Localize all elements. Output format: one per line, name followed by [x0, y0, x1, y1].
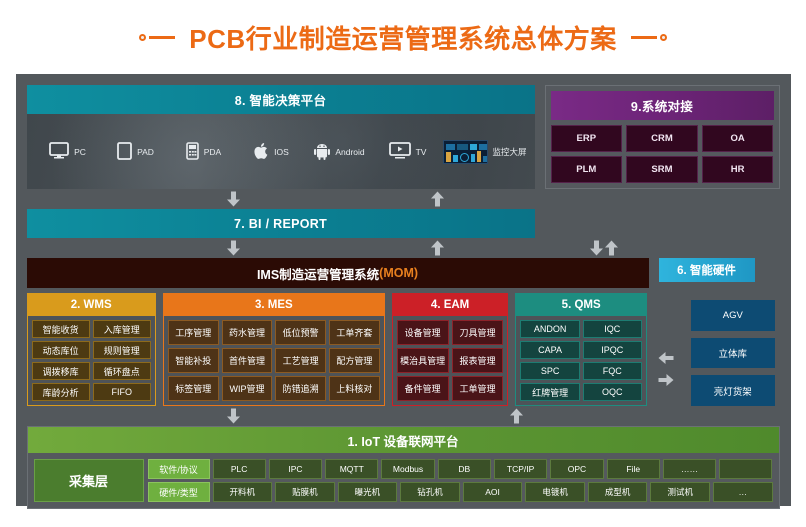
- iot-cell[interactable]: OPC: [550, 459, 603, 479]
- mes-cell[interactable]: 工艺管理: [275, 348, 326, 373]
- hardware-item-asrs[interactable]: 立体库: [691, 338, 774, 369]
- device-tv[interactable]: TV: [375, 142, 441, 161]
- iot-cell[interactable]: 贴膜机: [275, 482, 335, 502]
- qms-cell[interactable]: CAPA: [520, 341, 579, 359]
- eam-cell[interactable]: 模治具管理: [397, 348, 449, 373]
- iot-panel: 1. IoT 设备联网平台 采集层 软件/协议 PLC IPC MQTT Mod…: [27, 426, 780, 509]
- dashboard-screen-icon: [443, 140, 488, 164]
- module-qms-header: 5. QMS: [516, 294, 645, 316]
- iot-row-protocol-label: 软件/协议: [148, 459, 210, 479]
- device-label: Android: [335, 147, 364, 157]
- mes-cell[interactable]: 防错追溯: [275, 376, 326, 401]
- arrow-right-icon: [659, 373, 674, 391]
- decision-platform-header: 8. 智能决策平台: [27, 85, 535, 114]
- arrow-up-icon: [510, 409, 523, 424]
- mes-cell[interactable]: 配方管理: [329, 348, 380, 373]
- device-monitor-wall[interactable]: 监控大屏: [443, 140, 527, 164]
- device-ios[interactable]: IOS: [239, 142, 305, 162]
- android-icon: [314, 142, 330, 162]
- mes-cell[interactable]: 工单齐套: [329, 320, 380, 345]
- device-label: PC: [74, 147, 86, 157]
- device-pda[interactable]: PDA: [171, 142, 237, 162]
- bi-report-header: 7. BI / REPORT: [27, 209, 535, 238]
- device-pc[interactable]: PC: [35, 142, 101, 161]
- hardware-header: 6. 智能硬件: [659, 258, 755, 282]
- wms-cell[interactable]: 智能收货: [32, 320, 90, 338]
- diagram-canvas: 8. 智能决策平台 PC PAD: [16, 74, 791, 506]
- iot-row-hardware: 硬件/类型 开料机 贴膜机 曝光机 钻孔机 AOI 电镀机 成型机 测试机 …: [148, 482, 773, 502]
- integration-item-crm[interactable]: CRM: [626, 125, 698, 152]
- mom-title: IMS制造运营管理系统: [257, 264, 379, 283]
- flow-arrows-row-1: [27, 189, 780, 209]
- hardware-item-agv[interactable]: AGV: [691, 300, 774, 331]
- device-label: 监控大屏: [493, 146, 527, 158]
- page-title-row: PCB行业制造运营管理系统总体方案: [0, 0, 806, 74]
- device-pad[interactable]: PAD: [103, 142, 169, 162]
- iot-cell[interactable]: 电镀机: [525, 482, 585, 502]
- arrow-left-icon: [659, 351, 674, 369]
- device-label: PDA: [204, 147, 221, 157]
- apple-icon: [254, 142, 269, 162]
- arrow-up-icon: [431, 192, 444, 207]
- system-integration-header: 9.系统对接: [551, 91, 774, 120]
- qms-cell[interactable]: FQC: [583, 362, 642, 380]
- tv-icon: [389, 142, 411, 161]
- mes-cell[interactable]: WIP管理: [222, 376, 273, 401]
- top-section: 8. 智能决策平台 PC PAD: [27, 85, 780, 189]
- iot-cell[interactable]: 测试机: [650, 482, 710, 502]
- device-label: TV: [416, 147, 427, 157]
- module-row: 2. WMS 智能收货 入库管理 动态库位 规则管理 调拨移库 循环盘点 库龄分…: [27, 293, 780, 406]
- device-label: IOS: [274, 147, 289, 157]
- iot-cell[interactable]: File: [607, 459, 660, 479]
- arrow-down-icon: [227, 241, 240, 256]
- iot-cell[interactable]: AOI: [463, 482, 523, 502]
- device-strip: PC PAD PDA: [27, 114, 535, 189]
- integration-item-srm[interactable]: SRM: [626, 156, 698, 183]
- module-mes: 3. MES 工序管理 药水管理 低位预警 工单齐套 智能补投 首件管理 工艺管…: [163, 293, 385, 406]
- integration-item-oa[interactable]: OA: [702, 125, 774, 152]
- iot-cell[interactable]: Modbus: [381, 459, 434, 479]
- module-eam: 4. EAM 设备管理 刀具管理 模治具管理 报表管理 备件管理 工单管理: [392, 293, 509, 406]
- iot-cell[interactable]: DB: [438, 459, 491, 479]
- tablet-icon: [117, 142, 132, 162]
- mes-cell[interactable]: 标签管理: [168, 376, 219, 401]
- mom-tag: (MOM): [379, 266, 418, 280]
- module-qms: 5. QMS ANDON IQC CAPA IPQC SPC FQC 红牌管理 …: [515, 293, 646, 406]
- integration-item-hr[interactable]: HR: [702, 156, 774, 183]
- iot-body: 采集层 软件/协议 PLC IPC MQTT Modbus DB TCP/IP …: [28, 453, 779, 508]
- qms-cell[interactable]: 红牌管理: [520, 383, 579, 401]
- decision-platform-panel: 8. 智能决策平台 PC PAD: [27, 85, 535, 189]
- device-android[interactable]: Android: [307, 142, 373, 162]
- mes-cell[interactable]: 智能补投: [168, 348, 219, 373]
- title-left-decoration: [139, 34, 175, 41]
- arrow-down-icon: [590, 241, 603, 256]
- module-qms-body: ANDON IQC CAPA IPQC SPC FQC 红牌管理 OQC: [516, 316, 645, 405]
- iot-cell[interactable]: 成型机: [588, 482, 648, 502]
- module-wms-body: 智能收货 入库管理 动态库位 规则管理 调拨移库 循环盘点 库龄分析 FIFO: [28, 316, 155, 405]
- wms-cell[interactable]: 动态库位: [32, 341, 90, 359]
- hardware-link-arrows: [654, 293, 679, 406]
- wms-cell[interactable]: 循环盘点: [93, 362, 151, 380]
- iot-cell[interactable]: ……: [663, 459, 716, 479]
- qms-cell[interactable]: IPQC: [583, 341, 642, 359]
- eam-cell[interactable]: 设备管理: [397, 320, 449, 345]
- collect-layer-label: 采集层: [34, 459, 144, 502]
- mom-header: IMS制造运营管理系统(MOM): [27, 258, 649, 288]
- qms-cell[interactable]: OQC: [583, 383, 642, 401]
- qms-cell[interactable]: ANDON: [520, 320, 579, 338]
- module-eam-header: 4. EAM: [393, 294, 508, 316]
- mes-cell[interactable]: 上料核对: [329, 376, 380, 401]
- flow-arrows-row-3: [27, 406, 780, 426]
- wms-cell[interactable]: 规则管理: [93, 341, 151, 359]
- integration-item-plm[interactable]: PLM: [551, 156, 623, 183]
- iot-table: 软件/协议 PLC IPC MQTT Modbus DB TCP/IP OPC …: [148, 459, 773, 502]
- mes-cell[interactable]: 首件管理: [222, 348, 273, 373]
- wms-cell[interactable]: 入库管理: [93, 320, 151, 338]
- qms-cell[interactable]: IQC: [583, 320, 642, 338]
- module-mes-header: 3. MES: [164, 294, 384, 316]
- arrow-up-icon: [431, 241, 444, 256]
- module-wms: 2. WMS 智能收货 入库管理 动态库位 规则管理 调拨移库 循环盘点 库龄分…: [27, 293, 156, 406]
- flow-arrows-row-2: [27, 238, 780, 258]
- integration-item-erp[interactable]: ERP: [551, 125, 623, 152]
- title-right-decoration: [631, 34, 667, 41]
- mes-cell[interactable]: 药水管理: [222, 320, 273, 345]
- qms-cell[interactable]: SPC: [520, 362, 579, 380]
- iot-cell[interactable]: …: [713, 482, 773, 502]
- system-integration-grid: ERP CRM OA PLM SRM HR: [551, 120, 774, 183]
- wms-cell[interactable]: 库龄分析: [32, 383, 90, 401]
- module-wms-header: 2. WMS: [28, 294, 155, 316]
- hardware-body: AGV 立体库 亮灯货架: [686, 293, 779, 406]
- page-title: PCB行业制造运营管理系统总体方案: [189, 19, 616, 56]
- eam-cell[interactable]: 备件管理: [397, 376, 449, 401]
- system-integration-panel: 9.系统对接 ERP CRM OA PLM SRM HR: [545, 85, 780, 189]
- arrow-down-icon: [227, 192, 240, 207]
- arrow-down-icon: [227, 409, 240, 424]
- device-label: PAD: [137, 147, 154, 157]
- monitor-icon: [49, 142, 69, 161]
- iot-cell[interactable]: MQTT: [325, 459, 378, 479]
- mes-cell[interactable]: 低位预警: [275, 320, 326, 345]
- arrow-up-icon: [605, 241, 618, 256]
- iot-row-hardware-label: 硬件/类型: [148, 482, 210, 502]
- hardware-panel: AGV 立体库 亮灯货架: [686, 293, 779, 406]
- module-eam-body: 设备管理 刀具管理 模治具管理 报表管理 备件管理 工单管理: [393, 316, 508, 405]
- mes-cell[interactable]: 工序管理: [168, 320, 219, 345]
- eam-cell[interactable]: 报表管理: [452, 348, 504, 373]
- eam-cell[interactable]: 工单管理: [452, 376, 504, 401]
- iot-cell[interactable]: TCP/IP: [494, 459, 547, 479]
- iot-cell[interactable]: 曝光机: [338, 482, 398, 502]
- pda-icon: [186, 142, 199, 162]
- iot-cell-empty[interactable]: [719, 459, 772, 479]
- wms-cell[interactable]: 调拨移库: [32, 362, 90, 380]
- iot-header: 1. IoT 设备联网平台: [28, 427, 779, 453]
- wms-cell[interactable]: FIFO: [93, 383, 151, 401]
- iot-cell[interactable]: PLC: [213, 459, 266, 479]
- module-mes-body: 工序管理 药水管理 低位预警 工单齐套 智能补投 首件管理 工艺管理 配方管理 …: [164, 316, 384, 405]
- iot-cell[interactable]: IPC: [269, 459, 322, 479]
- iot-cell[interactable]: 开料机: [213, 482, 273, 502]
- eam-cell[interactable]: 刀具管理: [452, 320, 504, 345]
- iot-cell[interactable]: 钻孔机: [400, 482, 460, 502]
- iot-row-protocol: 软件/协议 PLC IPC MQTT Modbus DB TCP/IP OPC …: [148, 459, 773, 479]
- hardware-item-pick-to-light[interactable]: 亮灯货架: [691, 375, 774, 406]
